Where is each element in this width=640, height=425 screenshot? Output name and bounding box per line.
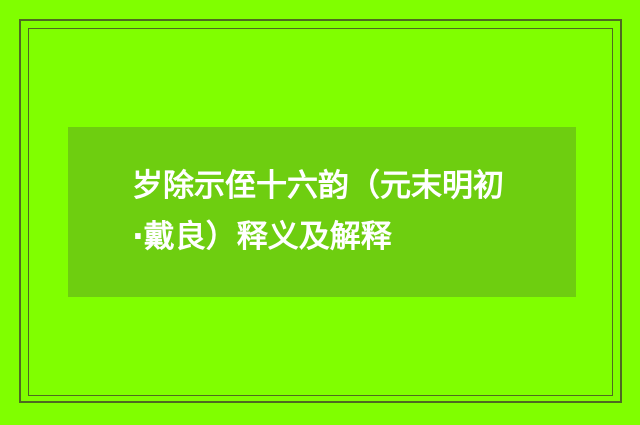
page-title: 岁除示侄十六韵（元末明初·戴良）释义及解释: [132, 161, 512, 263]
poster-canvas: 岁除示侄十六韵（元末明初·戴良）释义及解释: [0, 0, 640, 425]
title-panel: 岁除示侄十六韵（元末明初·戴良）释义及解释: [68, 127, 576, 297]
